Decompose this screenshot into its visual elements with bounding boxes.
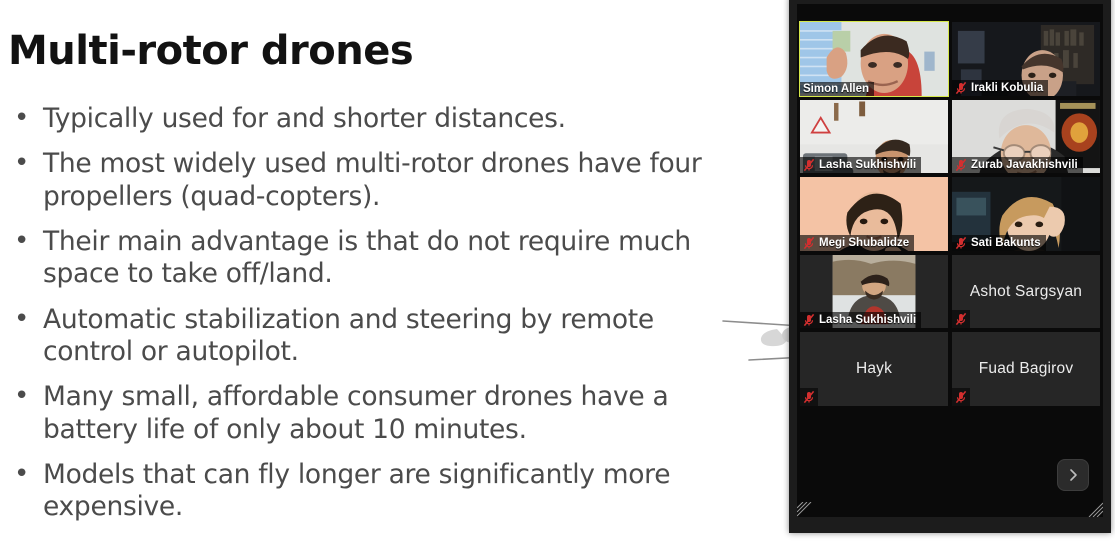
participant-name: Megi Shubalidze [819, 237, 909, 249]
participant-display-name: Fuad Bagirov [952, 360, 1100, 378]
bullet-point-icon: • [14, 304, 29, 336]
list-item: • Typically used for and shorter distanc… [8, 103, 708, 135]
list-item-text: The most widely used multi-rotor drones … [43, 148, 702, 211]
participant-name-strip: Zurab Javakhishvili [952, 157, 1083, 173]
mute-icon [955, 81, 967, 95]
list-item-text: Their main advantage is that do not requ… [43, 226, 691, 289]
participant-name-strip: Megi Shubalidze [800, 235, 914, 251]
mute-icon [955, 158, 967, 172]
participant-tile-fuad-bagirov[interactable]: Fuad Bagirov [952, 332, 1100, 406]
participant-name: Lasha Sukhishvili [819, 159, 916, 171]
participant-name-strip [952, 310, 970, 328]
mute-icon [955, 236, 967, 250]
mute-icon [955, 390, 967, 404]
participant-tile-simon-allen[interactable]: Simon Allen [800, 22, 948, 96]
participant-display-name: Hayk [800, 360, 948, 378]
participant-display-name: Ashot Sargsyan [952, 283, 1100, 301]
participant-name: Zurab Javakhishvili [971, 159, 1078, 171]
participant-name: Lasha Sukhishvili [819, 314, 916, 326]
participant-name: Simon Allen [803, 83, 869, 95]
participant-name-strip: Simon Allen [800, 82, 874, 96]
list-item: • Many small, affordable consumer drones… [8, 381, 708, 446]
participant-tile-hayk[interactable]: Hayk [800, 332, 948, 406]
participant-name-strip: Lasha Sukhishvili [800, 157, 921, 173]
list-item-text: Many small, affordable consumer drones h… [43, 381, 668, 444]
mute-icon [803, 158, 815, 172]
bullet-point-icon: • [14, 103, 29, 135]
bullet-point-icon: • [14, 381, 29, 413]
participant-tile-ashot-sargsyan[interactable]: Ashot Sargsyan [952, 255, 1100, 329]
resize-handle-bottom-left[interactable] [797, 502, 812, 517]
list-item-text: Models that can fly longer are significa… [43, 459, 670, 522]
participant-tile-megi-shubalidze[interactable]: Megi Shubalidze [800, 177, 948, 251]
participant-tile-irakli-kobulia[interactable]: Irakli Kobulia [952, 22, 1100, 96]
next-page-button[interactable] [1057, 459, 1089, 491]
video-conference-panel[interactable]: Simon Allen [789, 0, 1111, 533]
participant-tile-lasha-sukhishvili-avatar[interactable]: Lasha Sukhishvili [800, 255, 948, 329]
bullet-point-icon: • [14, 459, 29, 491]
chevron-right-icon [1066, 468, 1080, 482]
mute-icon [803, 390, 815, 404]
participant-name-strip [952, 388, 970, 406]
list-item: • Models that can fly longer are signifi… [8, 459, 708, 524]
video-panel-inner: Simon Allen [797, 4, 1103, 517]
page-title: Multi-rotor drones [8, 28, 413, 74]
participant-name-strip: Sati Bakunts [952, 235, 1046, 251]
participant-tile-grid: Simon Allen [800, 22, 1100, 406]
bullet-list: • Typically used for and shorter distanc… [8, 103, 708, 537]
participant-name: Irakli Kobulia [971, 82, 1043, 94]
resize-handle-bottom-right[interactable] [1088, 502, 1103, 517]
bullet-point-icon: • [14, 148, 29, 180]
participant-name-strip [800, 388, 818, 406]
list-item: • Their main advantage is that do not re… [8, 226, 708, 291]
participant-name-strip: Irakli Kobulia [952, 80, 1048, 96]
participant-name-strip: Lasha Sukhishvili [800, 312, 921, 328]
mute-icon [955, 312, 967, 326]
participant-tile-zurab-javakhishvili[interactable]: Zurab Javakhishvili [952, 100, 1100, 174]
participant-name: Sati Bakunts [971, 237, 1041, 249]
mute-icon [803, 313, 815, 327]
list-item-text: Automatic stabilization and steering by … [43, 304, 654, 367]
list-item-text: Typically used for and shorter distances… [43, 103, 566, 134]
mute-icon [803, 236, 815, 250]
list-item: • The most widely used multi-rotor drone… [8, 148, 708, 213]
list-item: • Automatic stabilization and steering b… [8, 304, 708, 369]
participant-tile-lasha-sukhishvili-video[interactable]: Lasha Sukhishvili [800, 100, 948, 174]
bullet-point-icon: • [14, 226, 29, 258]
participant-tile-sati-bakunts[interactable]: Sati Bakunts [952, 177, 1100, 251]
